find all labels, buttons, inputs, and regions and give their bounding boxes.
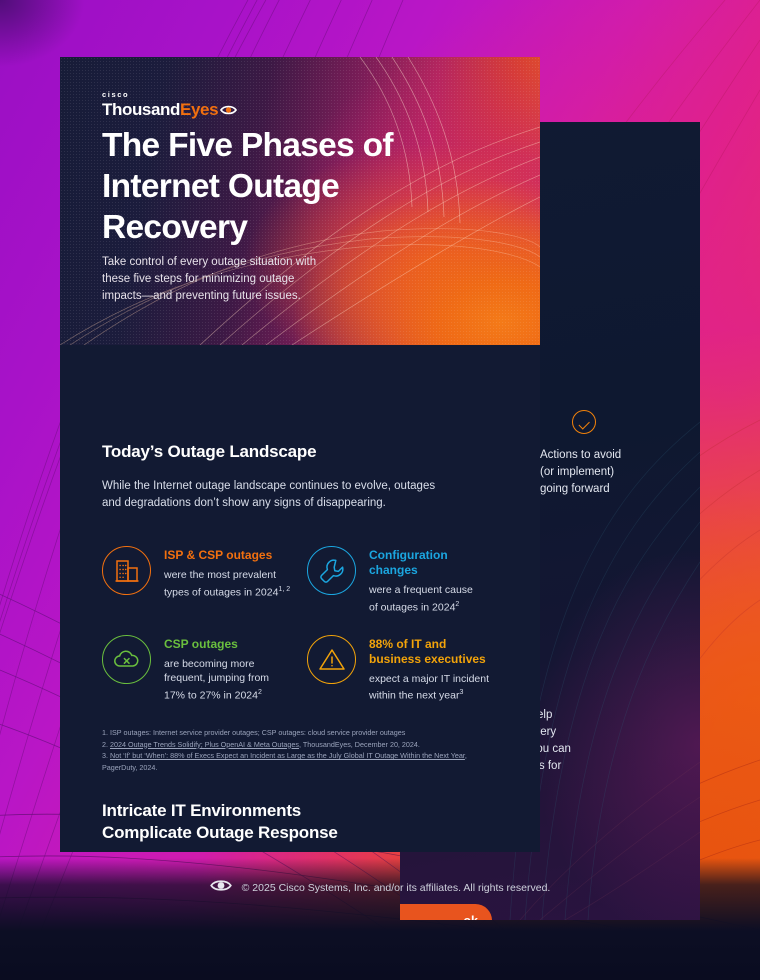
stat-description: were a frequent cause of outages in 2024… [369,583,473,615]
stat-description: expect a major IT incident within the ne… [369,672,489,704]
intricate-title: Intricate IT Environments Complicate Out… [102,800,498,844]
check-circle-icon [572,410,596,434]
stat-desc-text: expect a major IT incident within the ne… [369,673,489,702]
stat-desc-text: were the most prevalent types of outages… [164,569,278,598]
hero-subtitle: Take control of every outage situation w… [102,254,332,305]
stat-item: ISP & CSP outages were the most prevalen… [102,546,307,615]
eye-icon [220,104,237,116]
stat-superscript: 2 [455,601,459,608]
page-footer: © 2025 Cisco Systems, Inc. and/or its af… [0,878,760,898]
cloud-error-icon [102,635,151,684]
footnote-prefix: 1. [102,728,110,737]
stat-desc-text: are becoming more frequent, jumping from… [164,658,269,702]
back-card-fragment-6: Actions to avoid (or implement) going fo… [540,447,621,498]
stat-superscript: 2 [258,689,262,696]
stat-heading: 88% of IT and business executives [369,637,489,667]
stat-desc-text: were a frequent cause of outages in 2024 [369,584,473,613]
warning-triangle-icon [307,635,356,684]
landscape-intro: While the Internet outage landscape cont… [102,478,498,512]
logo-thousand-text: Thousand [102,100,180,120]
stat-heading: ISP & CSP outages [164,548,290,563]
stat-item: 88% of IT and business executives expect… [307,635,512,704]
stat-item: Configuration changes were a frequent ca… [307,546,512,615]
footnote-prefix: 3. [102,751,110,760]
eye-icon [210,878,232,898]
stat-superscript: 3 [459,689,463,696]
statistics-grid: ISP & CSP outages were the most prevalen… [102,546,498,703]
stat-item: CSP outages are becoming more frequent, … [102,635,307,704]
footnote-prefix: 2. [102,740,110,749]
footnote-item: 2. 2024 Outage Trends Solidify; Plus Ope… [102,739,498,751]
thousandeyes-logo: cisco ThousandEyes [102,90,237,120]
back-card-cta-button[interactable]: ok [400,904,492,920]
footnote-link[interactable]: Not ‘If’ but ‘When’: 88% of Execs Expect… [110,751,465,760]
intricate-it-section: Intricate IT Environments Complicate Out… [60,800,540,852]
stat-heading: CSP outages [164,637,269,652]
stat-description: were the most prevalent types of outages… [164,568,290,600]
building-icon [102,546,151,595]
copyright-text: © 2025 Cisco Systems, Inc. and/or its af… [242,882,551,894]
wrench-icon [307,546,356,595]
hero-banner: cisco ThousandEyes The Five Phases of In… [60,57,540,345]
landscape-title: Today’s Outage Landscape [102,441,498,463]
cisco-wordmark: cisco [102,90,237,99]
footnote-text: ISP outages: Internet service provider o… [110,728,405,737]
stat-description: are becoming more frequent, jumping from… [164,657,269,703]
footnote-item: 3. Not ‘If’ but ‘When’: 88% of Execs Exp… [102,750,498,773]
footnote-item: 1. ISP outages: Internet service provide… [102,727,498,739]
stat-heading: Configuration changes [369,548,473,578]
hero-title: The Five Phases of Internet Outage Recov… [102,125,502,248]
footnotes-list: 1. ISP outages: Internet service provide… [102,727,498,773]
outage-landscape-section: Today’s Outage Landscape While the Inter… [60,441,540,773]
infographic-card: cisco ThousandEyes The Five Phases of In… [60,57,540,852]
footnote-suffix: , ThousandEyes, December 20, 2024. [299,740,420,749]
stat-superscript: 1, 2 [278,586,290,593]
logo-eyes-text: Eyes [180,100,218,120]
footnote-link[interactable]: 2024 Outage Trends Solidify; Plus OpenAI… [110,740,299,749]
